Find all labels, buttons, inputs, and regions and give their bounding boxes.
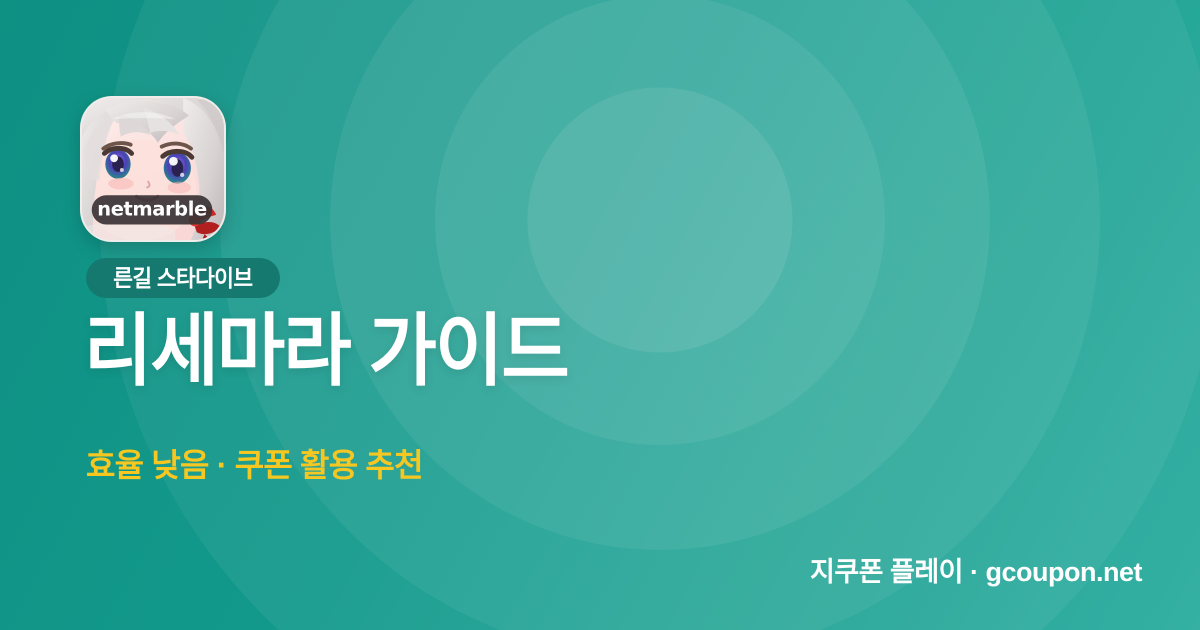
og-banner: netmarble 른길 스타다이브 리세마라 가이드 효율 낮음 · 쿠폰 활…: [0, 0, 1200, 630]
site-footer: 지쿠폰 플레이 · gcoupon.net: [810, 554, 1142, 590]
app-icon-artwork: netmarble: [82, 98, 224, 240]
game-name-badge-label: 른길 스타다이브: [113, 263, 252, 293]
page-title: 리세마라 가이드: [84, 305, 704, 397]
banner-content: netmarble 른길 스타다이브 리세마라 가이드 효율 낮음 · 쿠폰 활…: [80, 0, 780, 630]
netmarble-label: netmarble: [97, 198, 207, 221]
page-subtitle: 효율 낮음 · 쿠폰 활용 추천: [86, 443, 423, 487]
app-icon: netmarble: [80, 96, 226, 242]
game-name-badge: 른길 스타다이브: [86, 258, 280, 298]
